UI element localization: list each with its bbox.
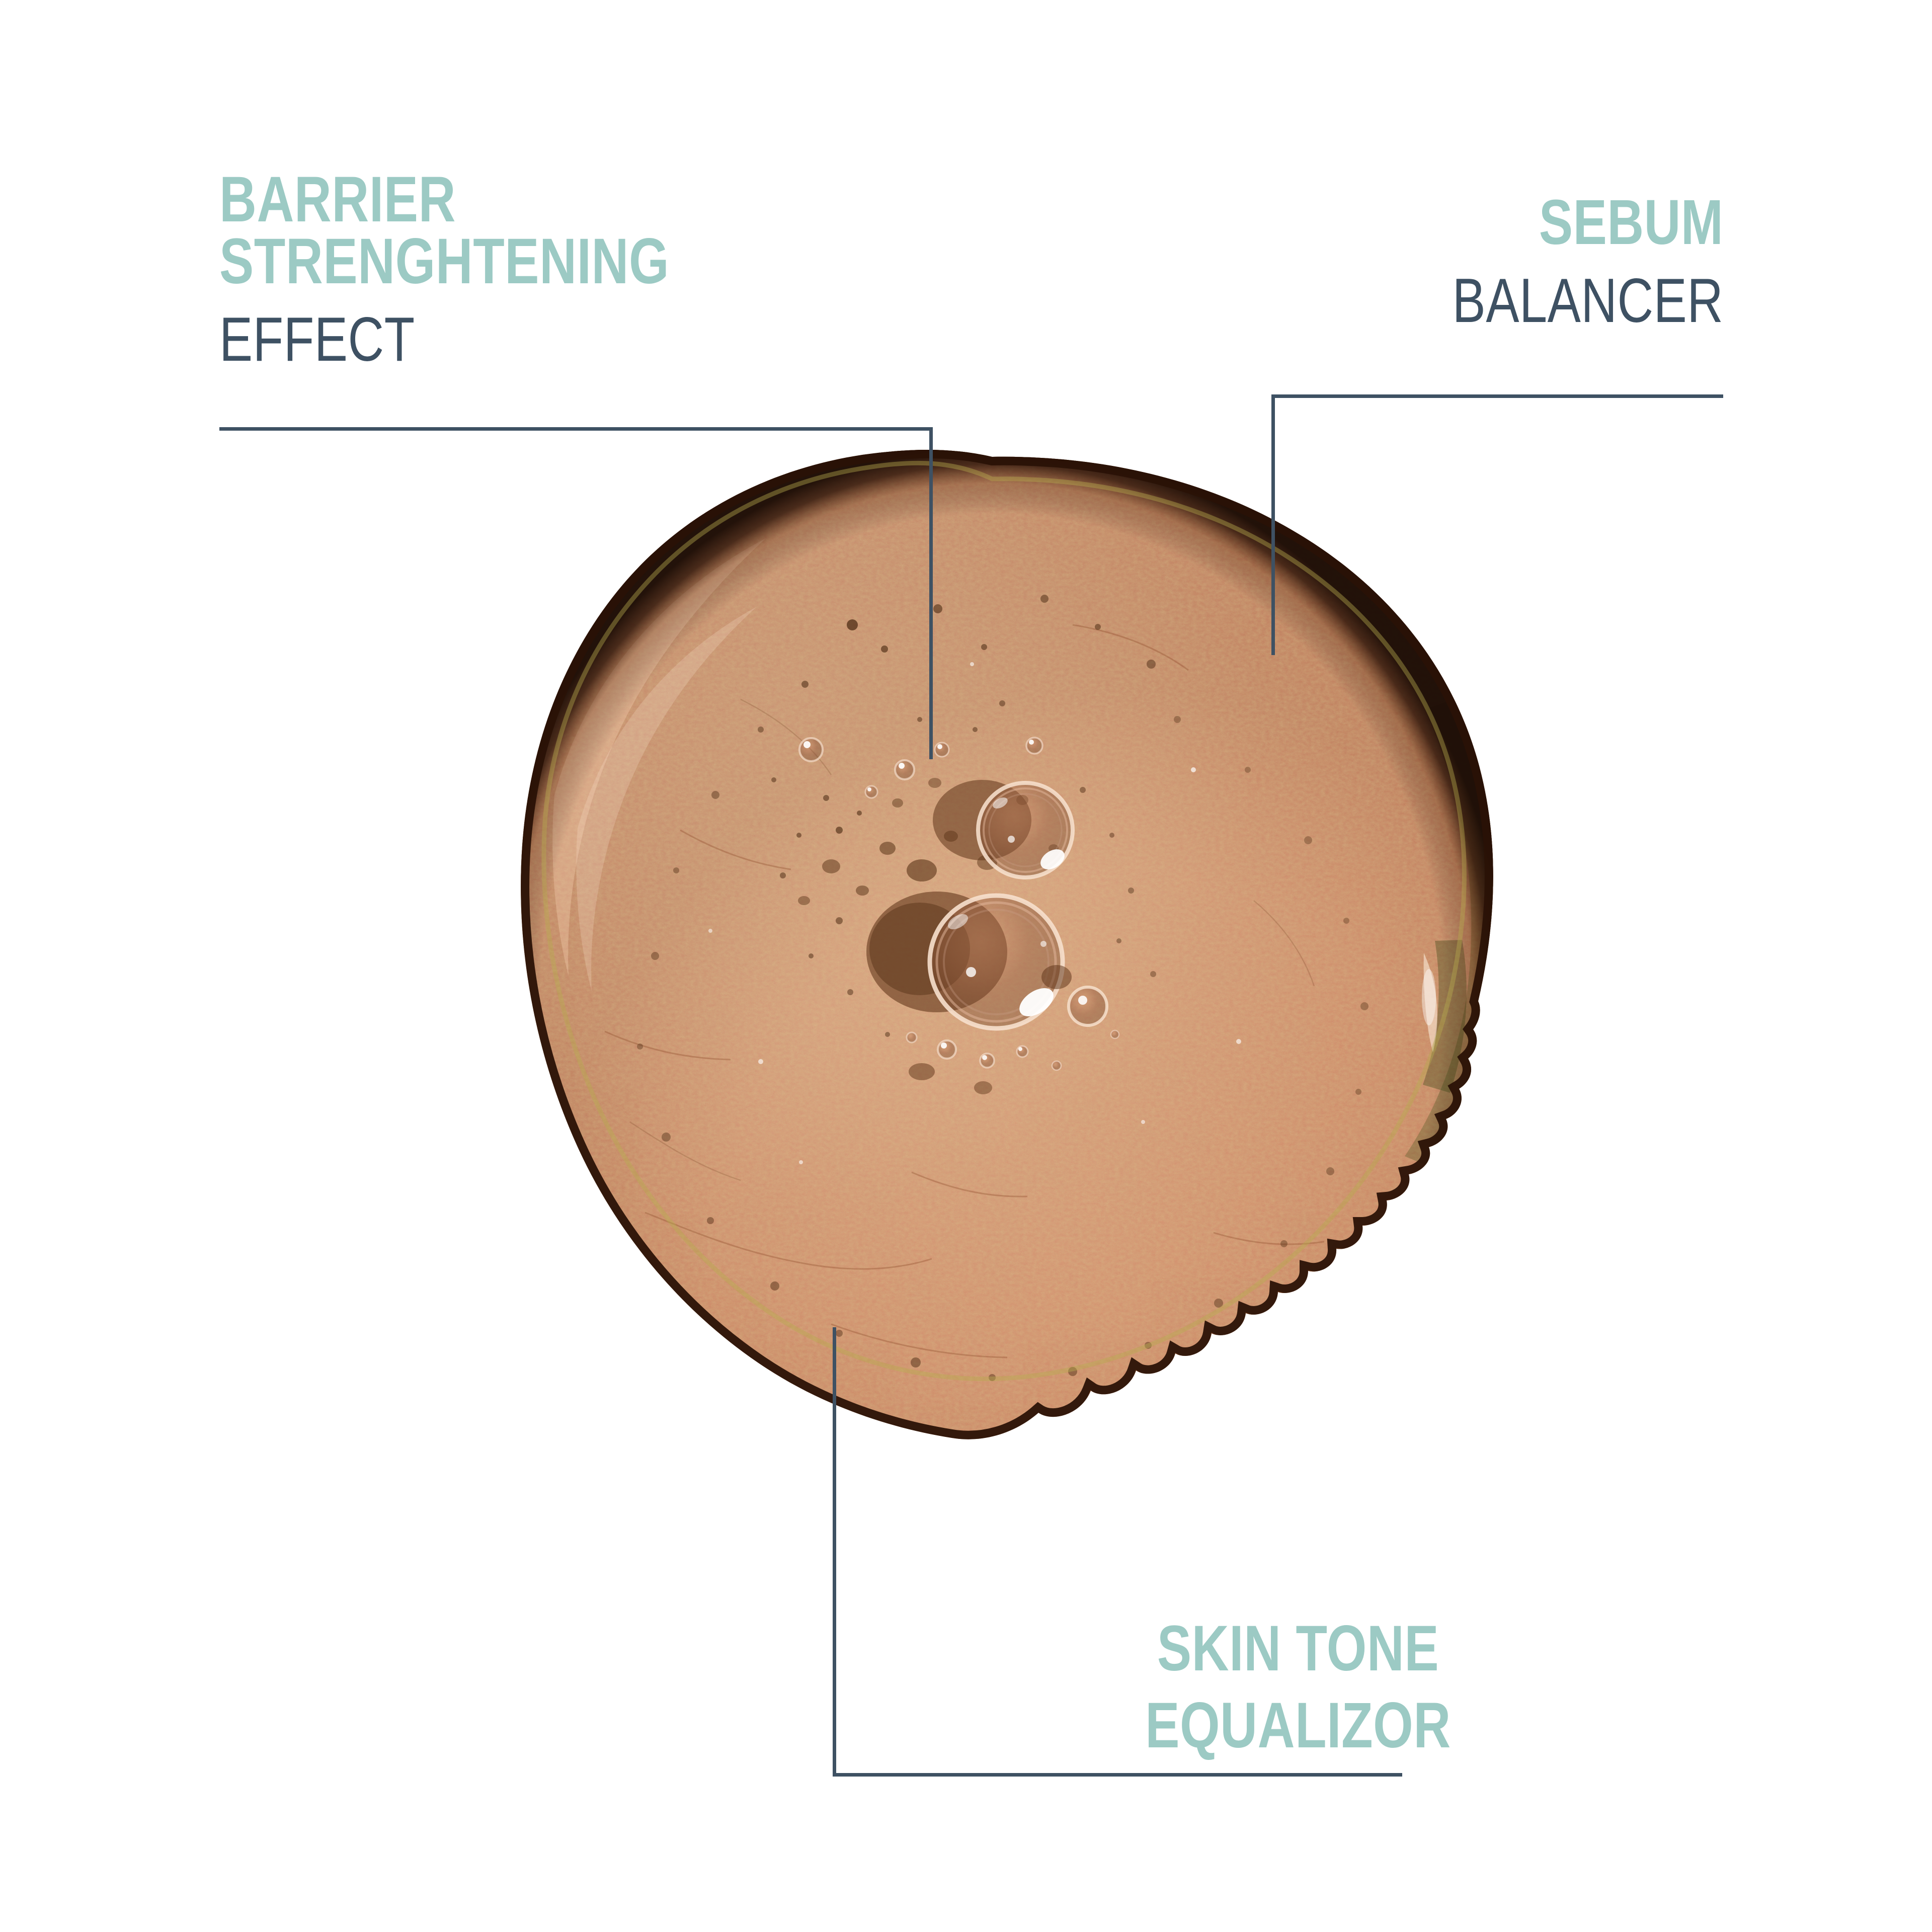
skintone-connector-vertical	[833, 1327, 836, 1775]
barrier-connector-vertical	[929, 427, 933, 759]
callout-sebum-balancer: SEBUM BALANCER	[1385, 192, 1723, 331]
callout-skintone-line-1: SKIN TONE	[1089, 1618, 1507, 1680]
sebum-connector-vertical	[1271, 394, 1275, 655]
callout-barrier-strengthening-effect: BARRIER STRENGHTENING EFFECT	[219, 169, 782, 370]
sebum-connector-horizontal	[1271, 394, 1723, 398]
callout-skin-tone-equalizor: SKIN TONE EQUALIZOR	[1036, 1618, 1560, 1757]
callout-skintone-line-2: EQUALIZOR	[1089, 1695, 1507, 1757]
barrier-connector-horizontal	[219, 427, 933, 431]
callout-barrier-line-3: EFFECT	[219, 310, 669, 370]
callout-sebum-line-2: BALANCER	[1452, 271, 1723, 331]
gel-droplet-macro-image	[479, 448, 1505, 1545]
callout-barrier-line-1: BARRIER	[219, 169, 669, 231]
infographic-canvas: BARRIER STRENGHTENING EFFECT SEBUM BALAN…	[0, 0, 1932, 1932]
callout-barrier-line-2: STRENGHTENING	[219, 231, 669, 293]
callout-sebum-line-1: SEBUM	[1452, 192, 1723, 253]
skintone-connector-horizontal	[833, 1773, 1402, 1777]
